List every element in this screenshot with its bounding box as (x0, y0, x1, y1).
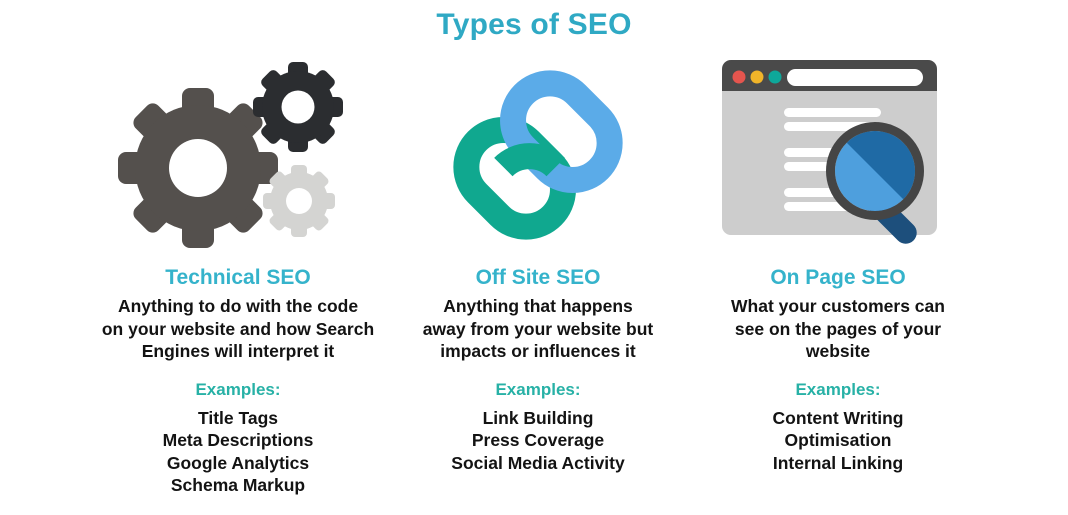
browser-dot-red-icon (733, 71, 746, 84)
example-item: Optimisation (785, 429, 892, 452)
column-on-page-seo: On Page SEO What your customers can see … (688, 45, 988, 474)
description-line: What your customers can (693, 295, 983, 318)
column-off-site-seo: Off Site SEO Anything that happens away … (388, 45, 688, 474)
column-technical-seo: Technical SEO Anything to do with the co… (88, 45, 388, 497)
example-item: Title Tags (198, 407, 278, 430)
columns-container: Technical SEO Anything to do with the co… (0, 45, 1068, 505)
column-heading: Off Site SEO (476, 265, 601, 291)
examples-list: Title Tags Meta Descriptions Google Anal… (163, 407, 314, 497)
browser-url-bar-shape (787, 69, 923, 86)
examples-label: Examples: (195, 379, 280, 400)
gear-light-shape (263, 165, 335, 237)
chain-link-upper-shape (498, 68, 625, 195)
description-line: see on the pages of your (693, 318, 983, 341)
browser-search-icon (688, 45, 988, 265)
gears-icon (88, 45, 388, 265)
browser-dot-teal-icon (769, 71, 782, 84)
example-item: Content Writing (773, 407, 904, 430)
example-item: Meta Descriptions (163, 429, 314, 452)
description-line: Anything to do with the code (93, 295, 383, 318)
browser-dot-yellow-icon (751, 71, 764, 84)
gear-dark-shape (253, 62, 343, 152)
description-line: Anything that happens (393, 295, 683, 318)
example-item: Press Coverage (472, 429, 604, 452)
page-title: Types of SEO (0, 5, 1068, 45)
example-item: Schema Markup (171, 474, 305, 497)
example-item: Link Building (483, 407, 594, 430)
example-item: Google Analytics (167, 452, 309, 475)
description-line: website (693, 340, 983, 363)
column-description: What your customers can see on the pages… (693, 295, 983, 363)
description-line: away from your website but (393, 318, 683, 341)
description-line: on your website and how Search (93, 318, 383, 341)
description-line: impacts or influences it (393, 340, 683, 363)
examples-label: Examples: (795, 379, 880, 400)
column-description: Anything that happens away from your web… (393, 295, 683, 363)
column-heading: Technical SEO (165, 265, 311, 291)
chain-link-icon (388, 45, 688, 265)
column-description: Anything to do with the code on your web… (93, 295, 383, 363)
example-item: Social Media Activity (451, 452, 624, 475)
examples-list: Link Building Press Coverage Social Medi… (451, 407, 624, 475)
examples-list: Content Writing Optimisation Internal Li… (773, 407, 904, 475)
description-line: Engines will interpret it (93, 340, 383, 363)
examples-label: Examples: (495, 379, 580, 400)
example-item: Internal Linking (773, 452, 903, 475)
column-heading: On Page SEO (770, 265, 905, 291)
